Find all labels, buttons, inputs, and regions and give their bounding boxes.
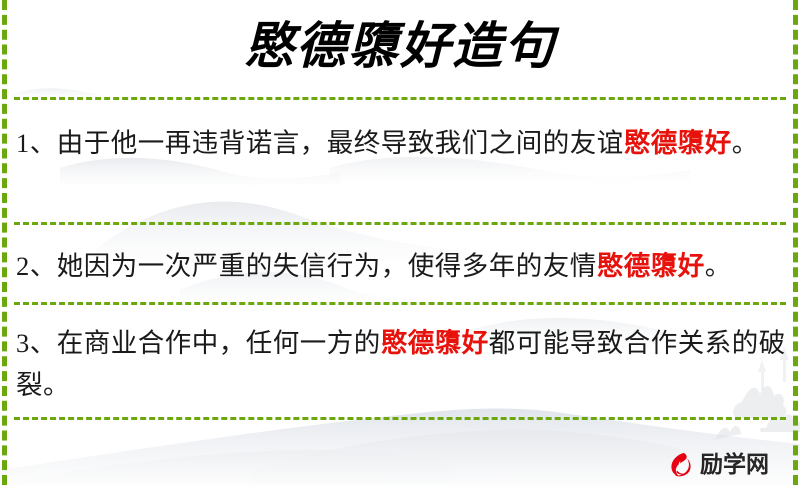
sentence-1-keyword: 愍德隳好 bbox=[624, 128, 732, 158]
border-left-dashed bbox=[2, 0, 7, 485]
sentence-1-text-after: 。 bbox=[732, 128, 759, 158]
separator-top bbox=[14, 97, 786, 100]
page-title: 愍德隳好造句 bbox=[0, 10, 800, 82]
sentence-2-keyword: 愍德隳好 bbox=[597, 251, 705, 281]
sentence-2-text-after: 。 bbox=[705, 251, 732, 281]
sentence-2-index: 2、 bbox=[16, 251, 57, 281]
example-sentence-2: 2、她因为一次严重的失信行为，使得多年的友情愍德隳好。 bbox=[16, 245, 786, 287]
sentence-1-index: 1、 bbox=[16, 128, 57, 158]
example-sentence-3: 3、在商业合作中，任何一方的愍德隳好都可能导致合作关系的破裂。 bbox=[16, 322, 786, 406]
site-logo[interactable]: 励学网 bbox=[665, 449, 769, 481]
separator-1-2 bbox=[14, 222, 786, 225]
sentence-3-keyword: 愍德隳好 bbox=[381, 328, 489, 358]
sentence-3-text-before: 在商业合作中，任何一方的 bbox=[57, 328, 381, 358]
flame-swirl-icon bbox=[665, 450, 695, 480]
site-logo-text: 励学网 bbox=[700, 450, 769, 480]
sentence-1-text-before: 由于他一再违背诺言，最终导致我们之间的友谊 bbox=[57, 128, 624, 158]
sentence-3-index: 3、 bbox=[16, 328, 57, 358]
page-root: 愍德隳好造句 1、由于他一再违背诺言，最终导致我们之间的友谊愍德隳好。 2、她因… bbox=[0, 0, 800, 485]
separator-bottom bbox=[14, 417, 786, 420]
border-right-dashed bbox=[793, 0, 798, 485]
example-sentence-1: 1、由于他一再违背诺言，最终导致我们之间的友谊愍德隳好。 bbox=[16, 122, 786, 164]
sentence-2-text-before: 她因为一次严重的失信行为，使得多年的友情 bbox=[57, 251, 597, 281]
separator-2-3 bbox=[14, 302, 786, 305]
